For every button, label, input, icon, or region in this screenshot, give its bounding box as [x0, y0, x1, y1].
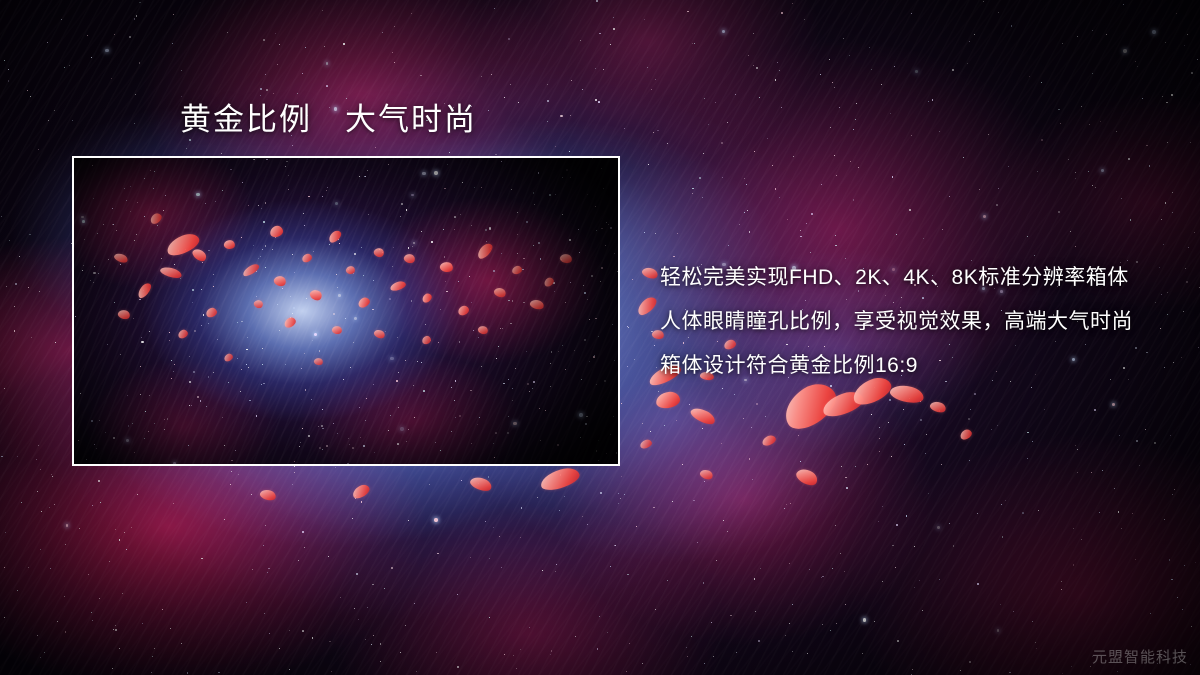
slide-title: 黄金比例 大气时尚 [180, 101, 477, 140]
watermark-label: 元盟智能科技 [1092, 646, 1188, 667]
body-line-2: 人体眼睛瞳孔比例，享受视觉效果，高端大气时尚 [660, 300, 1170, 344]
framed-image-content [74, 158, 618, 464]
framed-image [72, 156, 620, 466]
presentation-slide: 黄金比例 大气时尚 轻松完美实现FHD、2K、4K、8K标准分辨率箱体 人体眼睛… [0, 0, 1200, 675]
body-line-3: 箱体设计符合黄金比例16:9 [660, 344, 1170, 388]
body-text-block: 轻松完美实现FHD、2K、4K、8K标准分辨率箱体 人体眼睛瞳孔比例，享受视觉效… [660, 256, 1170, 388]
body-line-1: 轻松完美实现FHD、2K、4K、8K标准分辨率箱体 [660, 256, 1170, 300]
framed-image-vignette [74, 158, 618, 464]
